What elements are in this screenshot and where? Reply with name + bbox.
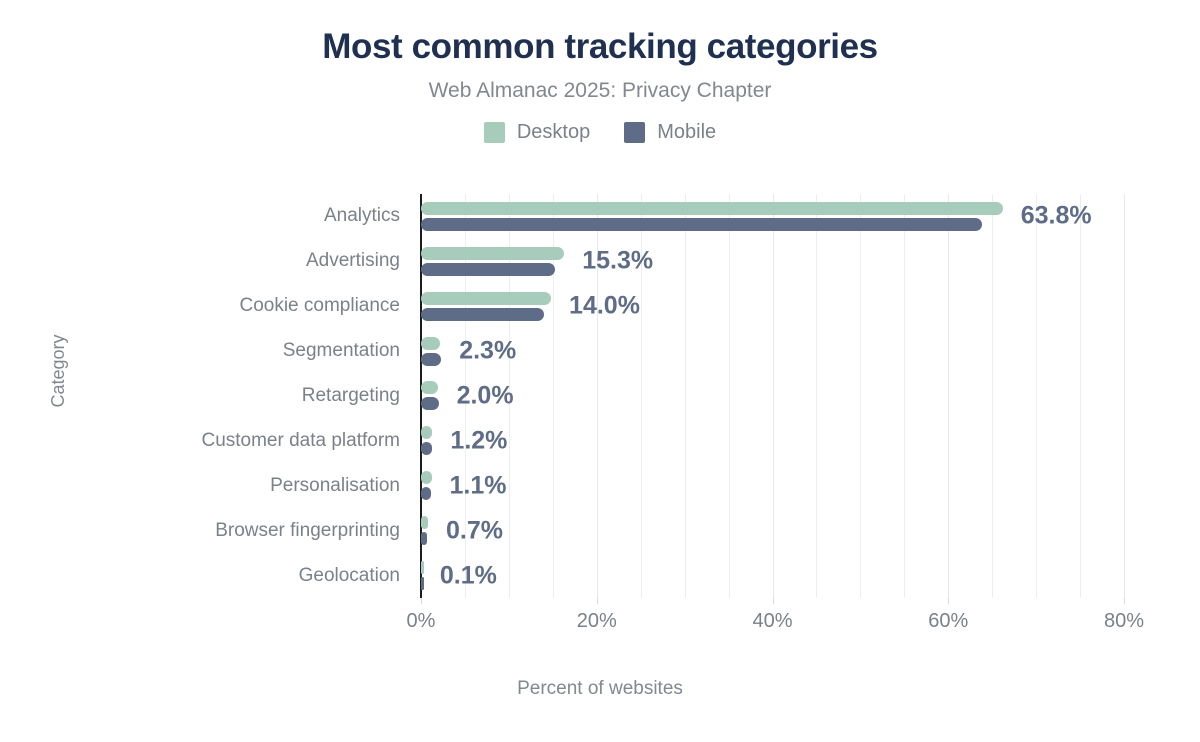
y-axis-tick-labels: AnalyticsAdvertisingCookie complianceSeg… — [60, 194, 412, 598]
bar-mobile[interactable] — [421, 577, 424, 590]
x-tick-mark — [1124, 598, 1125, 604]
legend-item-mobile[interactable]: Mobile — [624, 122, 716, 143]
bar-group: 0.7% — [421, 508, 1146, 553]
legend-label: Desktop — [517, 122, 590, 142]
bar-desktop[interactable] — [421, 202, 1003, 215]
bar-desktop[interactable] — [421, 337, 440, 350]
bar-group: 1.1% — [421, 463, 1146, 508]
category-label-retargeting: Retargeting — [302, 385, 400, 407]
plot-area: 63.8%15.3%14.0%2.3%2.0%1.2%1.1%0.7%0.1% — [421, 194, 1146, 598]
bar-mobile[interactable] — [421, 532, 427, 545]
bar-mobile[interactable] — [421, 263, 555, 276]
bar-value-label: 2.0% — [457, 383, 514, 408]
bar-group: 2.0% — [421, 374, 1146, 419]
bar-value-label: 14.0% — [569, 294, 640, 319]
bar-desktop[interactable] — [421, 561, 424, 574]
x-tick-mark — [773, 598, 774, 604]
category-label-browser-fingerprinting: Browser fingerprinting — [215, 520, 400, 542]
bar-mobile[interactable] — [421, 487, 431, 500]
bar-desktop[interactable] — [421, 381, 438, 394]
x-tick-mark — [948, 598, 949, 604]
x-axis-title: Percent of websites — [0, 678, 1200, 700]
bar-mobile[interactable] — [421, 308, 544, 321]
x-tick-label: 0% — [407, 610, 436, 633]
category-label-customer-data-platform: Customer data platform — [201, 430, 400, 452]
bar-group: 14.0% — [421, 284, 1146, 329]
bar-group: 0.1% — [421, 553, 1146, 598]
bar-desktop[interactable] — [421, 516, 428, 529]
x-tick-label: 20% — [577, 610, 617, 633]
x-tick-mark — [421, 598, 422, 604]
category-label-geolocation: Geolocation — [299, 565, 400, 587]
bar-desktop[interactable] — [421, 471, 432, 484]
x-tick-label: 40% — [752, 610, 792, 633]
bar-value-label: 1.1% — [450, 473, 507, 498]
category-label-advertising: Advertising — [306, 250, 400, 272]
bar-group: 15.3% — [421, 239, 1146, 284]
x-tick-label: 60% — [928, 610, 968, 633]
chart-legend: DesktopMobile — [0, 122, 1200, 143]
bar-value-label: 15.3% — [582, 249, 653, 274]
bar-mobile[interactable] — [421, 353, 441, 366]
x-tick-label: 80% — [1104, 610, 1144, 633]
bar-mobile[interactable] — [421, 397, 439, 410]
bar-value-label: 63.8% — [1021, 204, 1092, 229]
category-label-personalisation: Personalisation — [270, 475, 400, 497]
legend-swatch-icon — [484, 122, 505, 143]
bar-value-label: 0.7% — [446, 518, 503, 543]
x-tick-mark — [597, 598, 598, 604]
bar-desktop[interactable] — [421, 292, 551, 305]
bar-mobile[interactable] — [421, 442, 432, 455]
bar-value-label: 1.2% — [450, 428, 507, 453]
category-label-cookie-compliance: Cookie compliance — [239, 295, 400, 317]
bar-mobile[interactable] — [421, 218, 982, 231]
chart-header: Most common tracking categories Web Alma… — [0, 0, 1200, 143]
legend-label: Mobile — [657, 122, 716, 142]
bar-value-label: 0.1% — [440, 563, 497, 588]
bar-group: 1.2% — [421, 418, 1146, 463]
bar-desktop[interactable] — [421, 426, 432, 439]
legend-item-desktop[interactable]: Desktop — [484, 122, 590, 143]
x-axis-tick-labels: 0%20%40%60%80% — [421, 598, 1146, 638]
category-label-segmentation: Segmentation — [283, 340, 400, 362]
bar-group: 63.8% — [421, 194, 1146, 239]
bar-desktop[interactable] — [421, 247, 564, 260]
bar-value-label: 2.3% — [459, 339, 516, 364]
legend-swatch-icon — [624, 122, 645, 143]
category-label-analytics: Analytics — [324, 205, 400, 227]
bar-group: 2.3% — [421, 329, 1146, 374]
chart-subtitle: Web Almanac 2025: Privacy Chapter — [0, 79, 1200, 102]
chart-title: Most common tracking categories — [0, 28, 1200, 67]
